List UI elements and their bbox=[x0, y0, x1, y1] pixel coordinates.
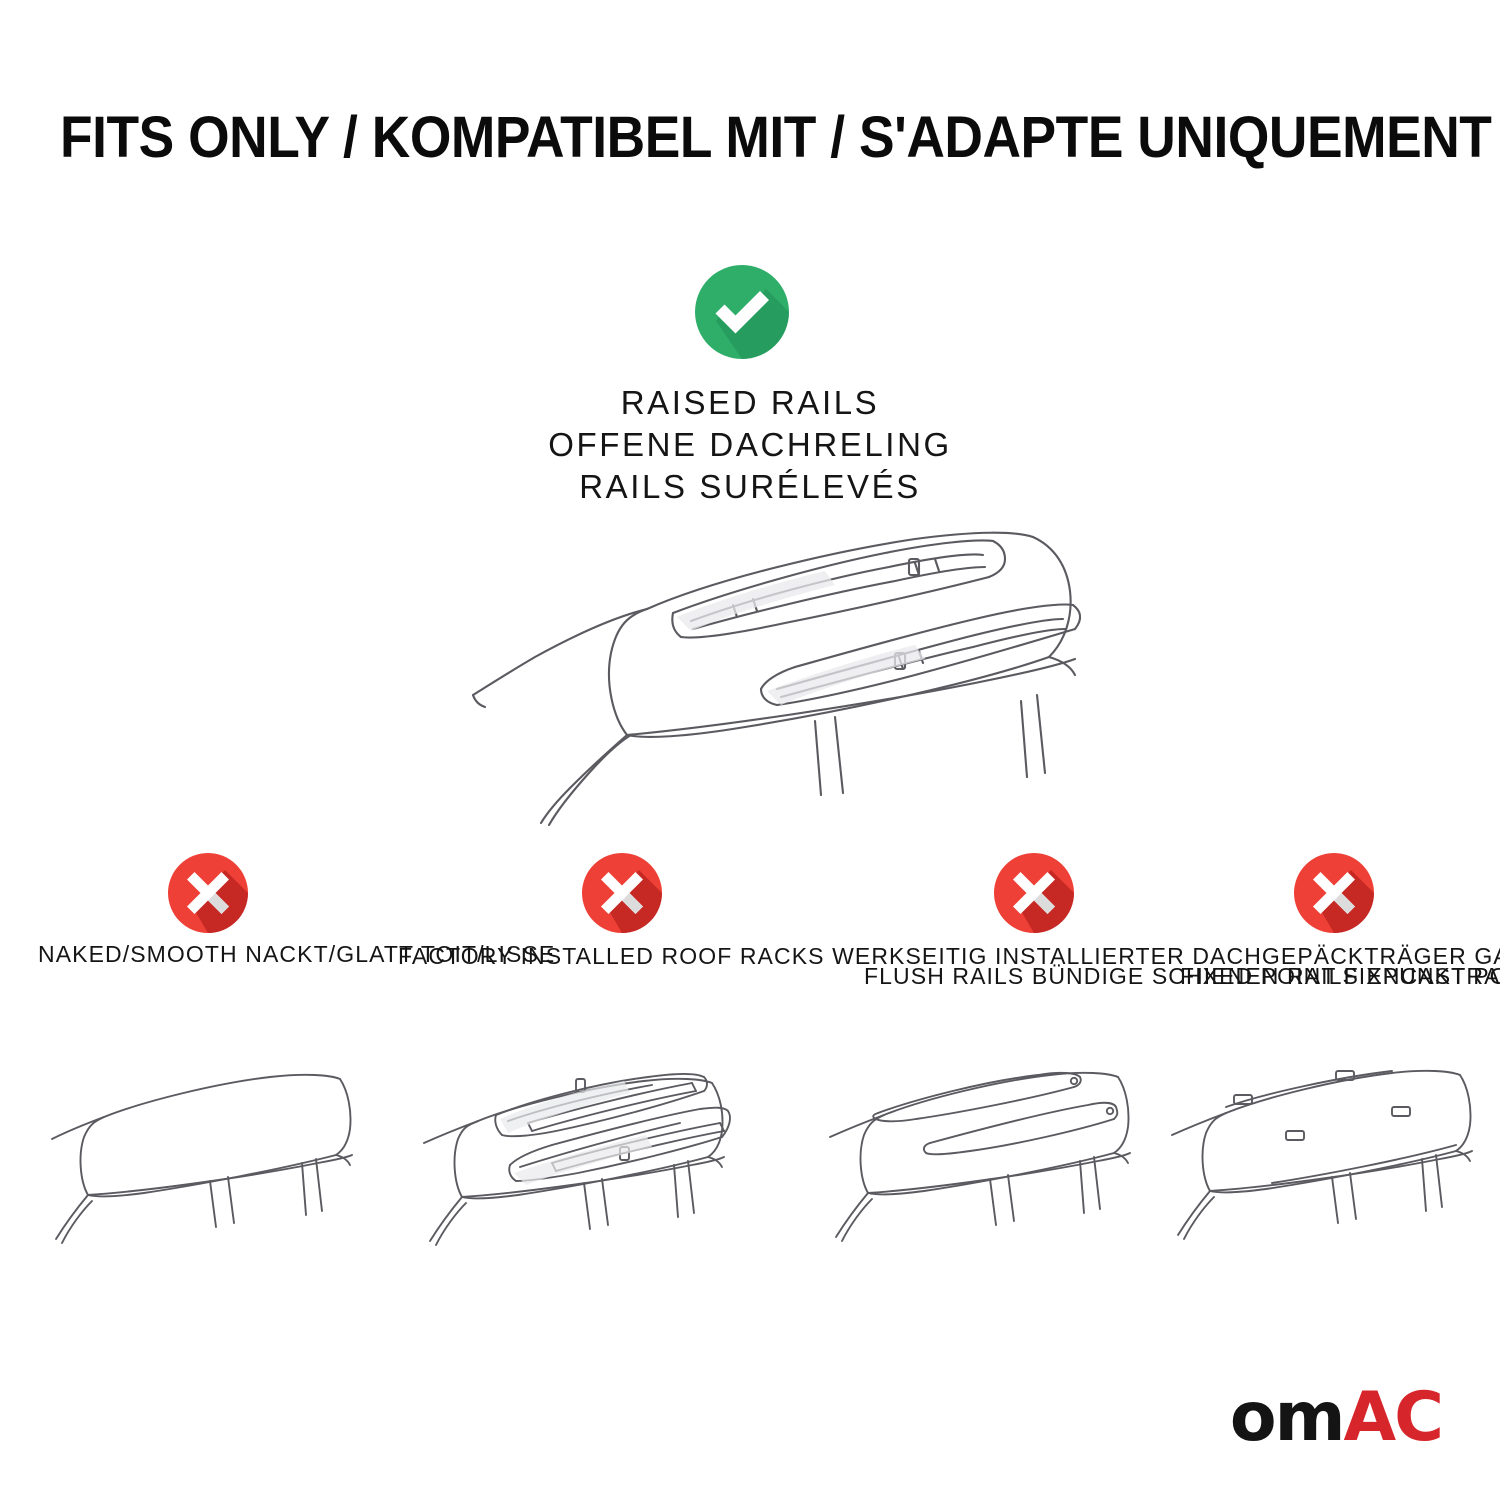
compatible-line-1: RAISED RAILS bbox=[0, 382, 1500, 424]
logo-text-accent: AC bbox=[1343, 1378, 1442, 1457]
caption-line: FACTORY INSTALLED ROOF RACKS bbox=[398, 943, 825, 969]
caption-line: FIXPUNKT bbox=[1344, 963, 1466, 989]
logo-text-dark: om bbox=[1230, 1378, 1344, 1457]
roof-factory-installed-racks-illustration bbox=[408, 1055, 768, 1275]
omac-logo: omAC bbox=[1230, 1384, 1442, 1452]
caption-line: NACKT/GLATT bbox=[245, 941, 413, 967]
roof-naked-smooth-illustration bbox=[48, 1055, 388, 1275]
incompatible-caption-factory-racks: FACTORY INSTALLED ROOF RACKS WERKSEITIG … bbox=[398, 942, 848, 972]
compatible-caption: RAISED RAILS OFFENE DACHRELING RAILS SUR… bbox=[0, 382, 1500, 509]
roof-fixed-point-illustration bbox=[1168, 1055, 1498, 1275]
compatible-line-3: RAILS SURÉLEVÉS bbox=[0, 466, 1500, 508]
red-x-icon-flush-rails bbox=[993, 852, 1075, 934]
caption-line: NAKED/SMOOTH bbox=[38, 941, 238, 967]
green-check-icon bbox=[694, 264, 790, 360]
red-x-icon-naked-smooth bbox=[167, 852, 249, 934]
incompatible-caption-naked-smooth: NAKED/SMOOTH NACKT/GLATT TOIT/LISSE bbox=[38, 940, 378, 970]
page-title: FITS ONLY / KOMPATIBEL MIT / S'ADAPTE UN… bbox=[60, 104, 1440, 171]
incompatible-caption-flush-rails: FLUSH RAILS BÜNDIGE SCHIENEN RAILS ENCAS… bbox=[864, 962, 1204, 992]
red-x-icon-fixed-point bbox=[1293, 852, 1375, 934]
fitment-infographic: FITS ONLY / KOMPATIBEL MIT / S'ADAPTE UN… bbox=[0, 0, 1500, 1500]
caption-line: FIXED POINT bbox=[1180, 963, 1336, 989]
caption-line: POINT FIXE bbox=[1473, 963, 1500, 989]
red-x-icon-factory-racks bbox=[581, 852, 663, 934]
caption-line: FLUSH RAILS bbox=[864, 963, 1024, 989]
roof-flush-rails-illustration bbox=[818, 1055, 1178, 1275]
roof-with-raised-rails-illustration bbox=[415, 505, 1115, 835]
incompatible-caption-fixed-point: FIXED POINT FIXPUNKT POINT FIXE bbox=[1180, 962, 1490, 992]
compatible-line-2: OFFENE DACHRELING bbox=[0, 424, 1500, 466]
